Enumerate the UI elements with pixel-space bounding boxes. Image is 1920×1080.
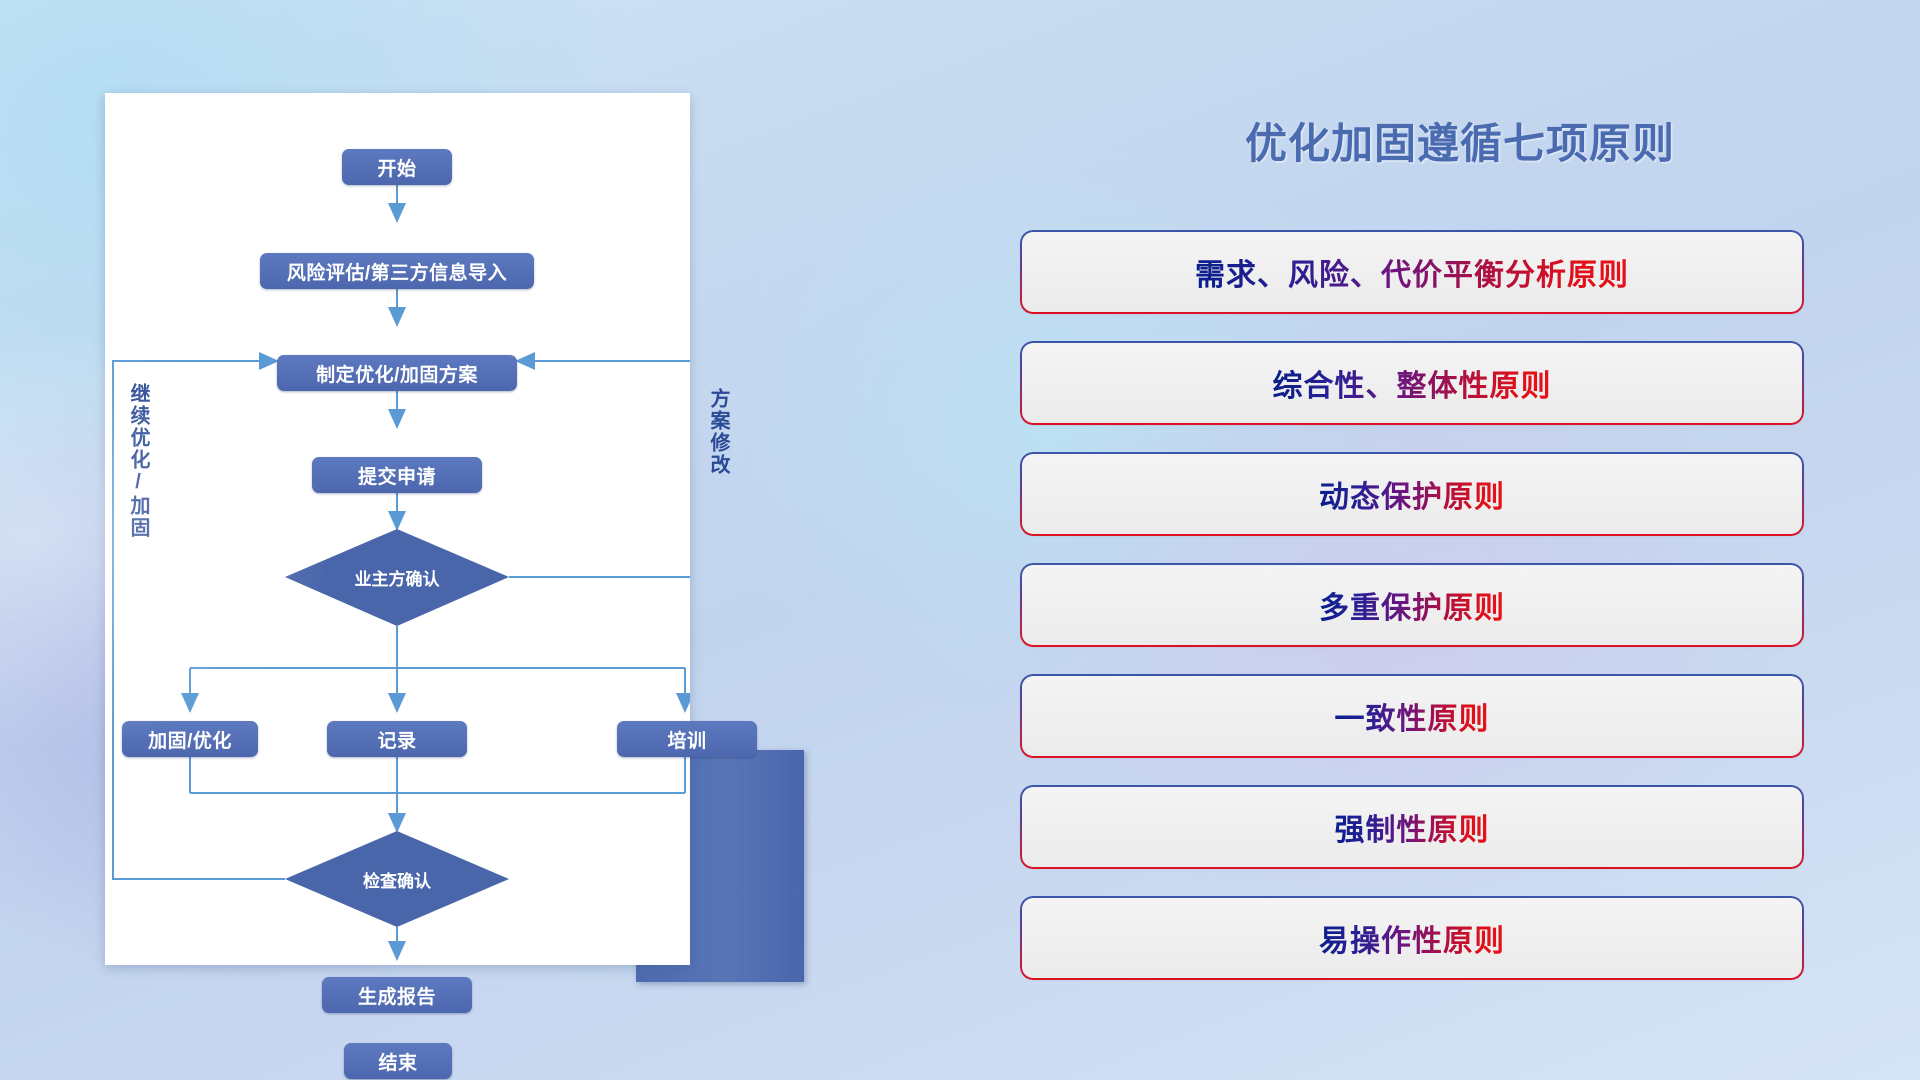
node-start[interactable]: 开始 [342,149,452,185]
principle-label: 综合性、整体性原则 [1273,361,1552,405]
principle-label: 动态保护原则 [1319,472,1505,516]
node-end[interactable]: 结束 [344,1043,452,1079]
principles-panel-title: 优化加固遵循七项原则 [1150,110,1770,171]
principle-label: 需求、风险、代价平衡分析原则 [1195,250,1629,294]
node-training[interactable]: 培训 [617,721,757,757]
principle-label: 一致性原则 [1335,694,1490,738]
flowchart-card: 开始 风险评估/第三方信息导入 制定优化/加固方案 提交申请 业主方确认 加固/… [105,93,690,965]
node-risk-assessment[interactable]: 风险评估/第三方信息导入 [260,253,534,289]
principle-item-7[interactable]: 易操作性原则 [1022,898,1802,978]
flowchart-diagram: 开始 风险评估/第三方信息导入 制定优化/加固方案 提交申请 业主方确认 加固/… [105,93,690,965]
slide-canvas: 开始 风险评估/第三方信息导入 制定优化/加固方案 提交申请 业主方确认 加固/… [0,0,1920,1080]
principle-item-1[interactable]: 需求、风险、代价平衡分析原则 [1022,232,1802,312]
decision-check-confirm-label: 检查确认 [327,863,467,895]
decision-owner-confirm-label: 业主方确认 [317,561,477,593]
node-record[interactable]: 记录 [327,721,467,757]
principle-item-3[interactable]: 动态保护原则 [1022,454,1802,534]
principle-label: 强制性原则 [1335,805,1490,849]
node-generate-report[interactable]: 生成报告 [322,977,472,1013]
edge-label-continue-optimize: 继续优化/加固 [127,383,148,539]
node-reinforce-optimize[interactable]: 加固/优化 [122,721,258,757]
principle-item-6[interactable]: 强制性原则 [1022,787,1802,867]
edge-label-plan-revision: 方案修改 [707,388,728,476]
node-submit-application[interactable]: 提交申请 [312,457,482,493]
flowchart-connectors [105,93,690,965]
node-make-plan[interactable]: 制定优化/加固方案 [277,355,517,391]
principle-label: 易操作性原则 [1319,916,1505,960]
principle-item-4[interactable]: 多重保护原则 [1022,565,1802,645]
principle-item-2[interactable]: 综合性、整体性原则 [1022,343,1802,423]
principle-label: 多重保护原则 [1319,583,1505,627]
principle-item-5[interactable]: 一致性原则 [1022,676,1802,756]
